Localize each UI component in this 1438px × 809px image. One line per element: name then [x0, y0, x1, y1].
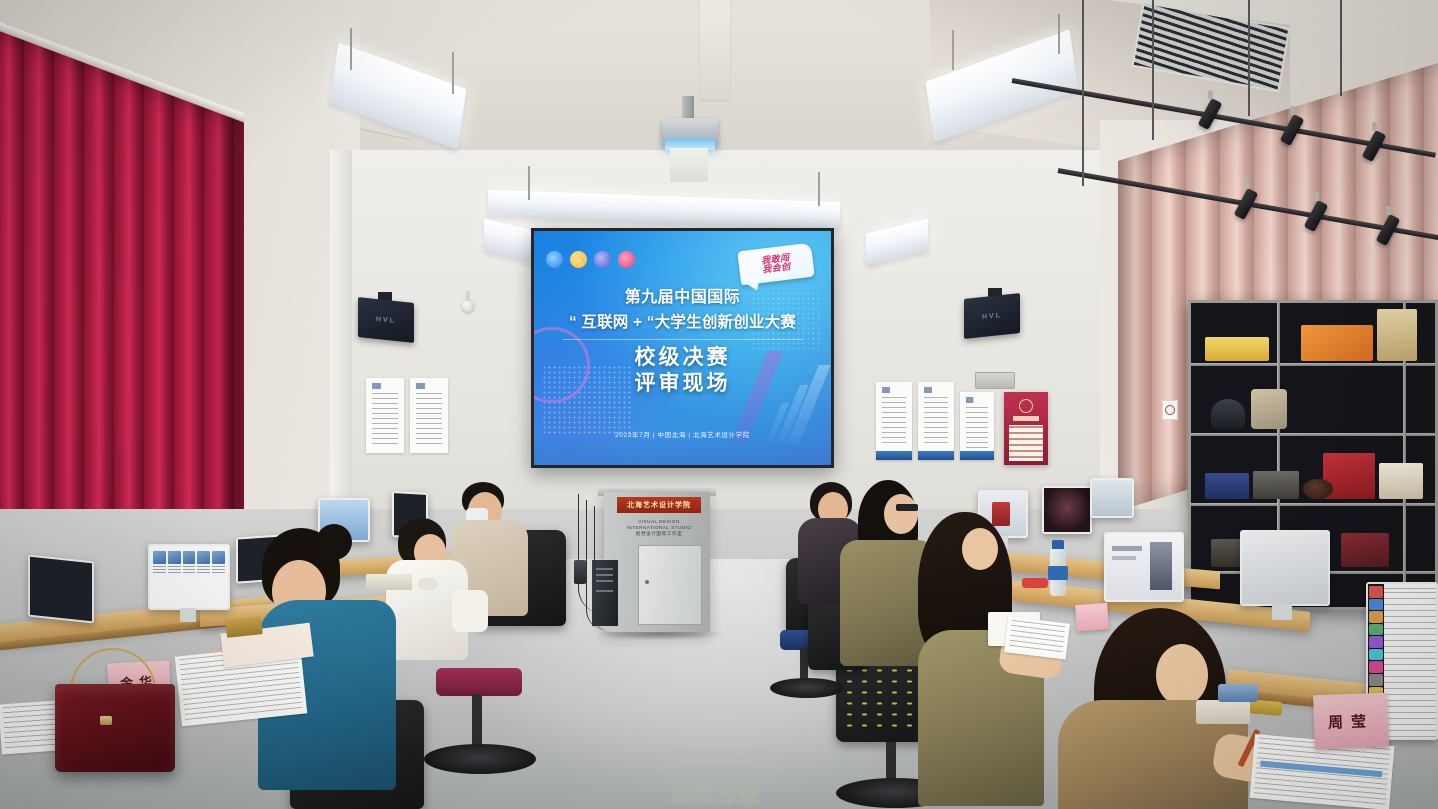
track-spot-5 — [1310, 192, 1322, 231]
ceiling-drop-wire-4 — [1340, 0, 1342, 96]
name-card-front-right-text: 周莹 — [1328, 710, 1375, 733]
tube-light-1-rod-a — [350, 28, 352, 70]
tube-light-5-rod-b — [1058, 14, 1060, 54]
dock-icon-8[interactable] — [1369, 674, 1383, 686]
chair-left-base — [424, 744, 536, 774]
notice-poster-right-1-header — [882, 387, 906, 393]
handbag-clasp-icon — [100, 716, 112, 725]
water-bottle-label — [1048, 566, 1068, 580]
monitor-right-preview-screen — [1106, 534, 1182, 600]
dock-icon-7[interactable] — [1369, 661, 1383, 673]
shelf-item-dark-pot — [1211, 399, 1245, 429]
file-item[interactable] — [168, 551, 181, 575]
notice-poster-left-1 — [366, 378, 404, 453]
shelf-item-yellow-jars — [1205, 337, 1269, 361]
monitor-right-photo-screen — [1044, 488, 1090, 532]
security-camera — [462, 300, 474, 312]
certificate-title-bar — [1013, 416, 1039, 421]
document-window[interactable] — [1384, 584, 1436, 738]
tissue-box — [1196, 700, 1250, 724]
notice-poster-right-1 — [876, 382, 912, 460]
file-item[interactable] — [197, 551, 210, 575]
slide-text-block: 第九届中国国际 “ 互联网 + “大学生创新创业大赛 校级决赛 评审现场 — [534, 283, 831, 398]
notice-poster-right-3-header — [966, 397, 988, 403]
track-spot-3 — [1368, 122, 1380, 161]
mouse-left[interactable] — [418, 578, 438, 590]
classroom-photo: 校级决赛 HVL HVL — [0, 0, 1438, 809]
preview-line-1 — [1112, 546, 1142, 551]
notice-poster-left-2 — [410, 378, 448, 453]
monitor-left-thumbnails-screen — [150, 546, 228, 608]
monitor-right-tall-stand — [1272, 604, 1292, 620]
podium-plaque-en: VISUAL DESIGN INTERNATIONAL STUDIO 视觉设计国… — [621, 516, 697, 540]
name-card-mid-right — [1075, 603, 1109, 631]
projection-screen: 我敢闯 我会创 第九届中国国际 “ 互联网 + “大学生创新创业大赛 校级决赛 … — [531, 228, 834, 468]
tube-light-2-rod-b — [818, 172, 820, 206]
name-card-front-right: 周莹 — [1313, 693, 1389, 750]
handbag — [55, 684, 175, 772]
track-spot-4 — [1240, 180, 1252, 219]
dock-icon-6[interactable] — [1369, 649, 1383, 661]
desk-red-item — [992, 502, 1010, 526]
podium-cabinet-door[interactable] — [638, 545, 702, 625]
notice-poster-left-1-header — [372, 383, 398, 389]
dock-icon-5[interactable] — [1369, 636, 1383, 648]
logo-swirl-icon — [618, 251, 635, 268]
notice-poster-right-1-body — [882, 397, 906, 447]
ceiling-drop-wire-3 — [1248, 0, 1250, 116]
speaker-left: HVL — [358, 297, 414, 343]
logo-wave-icon — [594, 251, 611, 268]
monitor-left-thumbnails-stand — [180, 608, 196, 622]
photo-preview-image — [1044, 488, 1090, 532]
shelf-item-basket — [1251, 389, 1287, 429]
notice-poster-left-2-header — [416, 383, 442, 389]
desk-red-marker — [1022, 578, 1048, 588]
keyboard-right[interactable] — [1008, 592, 1062, 608]
speaker-right-brand: HVL — [982, 311, 1002, 320]
tube-light-2-rod-a — [528, 166, 530, 200]
tube-light-1-rod-b — [452, 52, 454, 94]
ceiling-beam-center — [700, 0, 730, 100]
file-thumbnail-grid — [150, 546, 228, 575]
chair-left-seat[interactable] — [436, 668, 522, 696]
file-item[interactable] — [183, 551, 196, 575]
shelf-row-2 — [1191, 433, 1435, 436]
slide-heading-line-1: 校级决赛 — [534, 345, 831, 371]
podium-plaque-sub: 视觉设计国际工作室 — [636, 531, 683, 537]
ceiling-drop-wire-1 — [1082, 0, 1084, 186]
shelf-item-gray-box — [1253, 471, 1299, 499]
slide-logo-row — [546, 251, 635, 268]
water-bottle-cap — [1052, 540, 1064, 549]
no-smoking-sign — [1162, 400, 1178, 420]
dock-icon-4[interactable] — [1369, 624, 1383, 636]
podium-plaque-cn: 北海艺术设计学院 — [617, 497, 701, 513]
ceiling-drop-wire-2 — [1152, 0, 1154, 140]
security-camera-mount — [466, 291, 470, 301]
monitor-right-tall-screen — [1242, 532, 1328, 604]
monitor-right-photo[interactable] — [1042, 486, 1092, 534]
presentation-slide: 我敢闯 我会创 第九届中国国际 “ 互联网 + “大学生创新创业大赛 校级决赛 … — [534, 231, 831, 465]
monitor-left-second[interactable] — [28, 555, 94, 624]
preview-line-2 — [1112, 556, 1136, 560]
notice-poster-right-2-header — [924, 387, 948, 393]
projector-light-cone — [670, 148, 708, 182]
glasses-icon — [896, 504, 918, 511]
shelf-item-blue-box — [1205, 473, 1249, 499]
certificate-body — [1009, 425, 1043, 461]
shelf-row-3 — [1191, 503, 1435, 506]
dock-icon-2[interactable] — [1369, 599, 1383, 611]
logo-flame-icon — [570, 251, 587, 268]
file-item[interactable] — [212, 551, 225, 575]
speaker-left-brand: HVL — [376, 315, 396, 324]
podium-door-lock-icon — [645, 580, 649, 584]
slide-title-line-2: “ 互联网 + “大学生创新创业大赛 — [534, 310, 831, 332]
certificate-seal-icon — [1019, 399, 1033, 413]
track-spot-6 — [1382, 206, 1394, 245]
logo-bird-icon — [546, 251, 563, 268]
red-certificate-poster — [1004, 392, 1048, 465]
chair-left-post — [472, 694, 482, 750]
track-spot-2 — [1286, 106, 1298, 145]
notice-poster-right-2-footer — [918, 451, 954, 460]
slogan-line-2: 我会创 — [762, 262, 791, 275]
desk-blue-item — [1218, 684, 1258, 702]
power-strip — [574, 560, 586, 584]
podium-plaque-cn-text: 北海艺术设计学院 — [627, 500, 691, 510]
tube-light-5-rod-a — [952, 30, 954, 70]
chair-right-base-1 — [770, 678, 844, 698]
monitor-right-far[interactable] — [1090, 478, 1134, 518]
slide-slogan-ribbon: 我敢闯 我会创 — [737, 243, 815, 286]
track-spot-1 — [1204, 90, 1216, 129]
podium-cable-3 — [594, 506, 610, 632]
wall-control-panel[interactable] — [975, 372, 1015, 389]
monitor-right-tall[interactable] — [1240, 530, 1330, 606]
shelf-item-orange-display — [1301, 325, 1373, 361]
shelf-item-dark-sphere — [1303, 479, 1333, 499]
shelf-row-1 — [1191, 363, 1435, 366]
slide-heading-line-2: 评审现场 — [534, 371, 831, 397]
shelf-item-cream-box — [1379, 463, 1423, 499]
dock-icon-3[interactable] — [1369, 611, 1383, 623]
paper-mid-right — [1004, 616, 1070, 659]
preview-figure — [1150, 542, 1172, 590]
notice-poster-right-1-footer — [876, 451, 912, 460]
notice-poster-right-3-body — [966, 407, 988, 451]
notice-poster-right-2-body — [924, 397, 948, 447]
shelf-item-sculpture — [1377, 309, 1417, 361]
speaker-right: HVL — [964, 293, 1020, 339]
floor-text-reflection: 校级决赛 — [600, 739, 830, 809]
notice-poster-left-2-body — [416, 393, 442, 447]
monitor-right-far-screen — [1092, 480, 1132, 516]
desk-gold-box — [225, 616, 263, 638]
keyboard-left[interactable] — [366, 574, 412, 590]
notice-poster-right-3-footer — [960, 451, 994, 460]
slide-divider — [563, 339, 803, 340]
monitor-right-preview[interactable] — [1104, 532, 1184, 602]
notice-poster-right-3 — [960, 392, 994, 460]
shelf-item-bottom-red — [1341, 533, 1389, 567]
slide-bottom-wave — [534, 435, 831, 465]
slide-title-line-1: 第九届中国国际 — [534, 283, 831, 307]
notice-poster-right-2 — [918, 382, 954, 460]
dock-icon-1[interactable] — [1369, 586, 1383, 598]
notice-poster-left-1-body — [372, 393, 398, 447]
monitor-left-second-screen — [30, 557, 92, 622]
monitor-left-thumbnails[interactable] — [148, 544, 230, 610]
podium-plaque-en-line2: INTERNATIONAL STUDIO — [627, 525, 692, 531]
file-item[interactable] — [153, 551, 166, 575]
